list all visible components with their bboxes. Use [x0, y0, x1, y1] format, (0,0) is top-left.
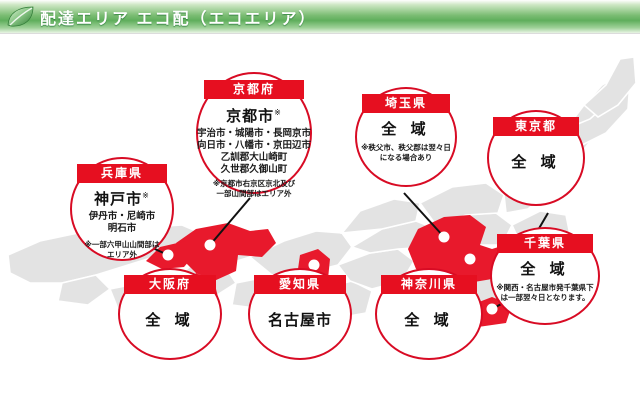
- callout-aichi-main: 名古屋市: [248, 312, 352, 329]
- callout-saitama-prefecture: 埼玉県: [362, 94, 450, 113]
- page-title: 配達エリア エコ配（エコエリア）: [40, 5, 316, 29]
- callout-kyoto-prefecture: 京都府: [204, 80, 304, 99]
- callout-chiba-prefecture: 千葉県: [497, 234, 593, 253]
- callout-kyoto-main: 京都市※: [196, 104, 312, 125]
- callout-kyoto-main-mark: ※: [274, 108, 282, 117]
- callout-hyogo-sub-2: 明石市: [70, 223, 174, 235]
- callout-aichi[interactable]: 愛知県 名古屋市: [248, 268, 352, 360]
- callout-kyoto-note-1: ※京都市右京区京北及び: [196, 179, 312, 189]
- callout-chiba-note-1: ※関西・名古屋市発千葉県下: [490, 283, 600, 293]
- callout-tokyo-prefecture: 東京都: [493, 117, 579, 136]
- callout-kyoto-note-2: 一部山間部はエリア外: [196, 189, 312, 199]
- page-header: 配達エリア エコ配（エコエリア）: [0, 0, 640, 34]
- callout-kanagawa[interactable]: 神奈川県 全 域: [375, 268, 483, 360]
- callout-hyogo[interactable]: 兵庫県 神戸市※ 伊丹市・尼崎市 明石市 ※一部六甲山山間部は エリア外: [70, 157, 174, 261]
- callout-saitama-main: 全 域: [355, 121, 457, 138]
- callout-hyogo-note-1: ※一部六甲山山間部は: [70, 240, 174, 250]
- callout-kyoto[interactable]: 京都府 京都市※ 宇治市・城陽市・長岡京市 向日市・八幡市・京田辺市 乙訓郡大山…: [196, 72, 312, 194]
- callout-osaka-prefecture: 大阪府: [124, 275, 216, 294]
- callout-kyoto-sub-1: 宇治市・城陽市・長岡京市: [196, 128, 312, 140]
- callout-tokyo-main: 全 域: [487, 154, 585, 171]
- callout-kanagawa-main: 全 域: [375, 312, 483, 329]
- callout-hyogo-main: 神戸市※: [70, 187, 174, 208]
- callout-hyogo-prefecture: 兵庫県: [77, 164, 167, 183]
- callout-hyogo-note-2: エリア外: [70, 250, 174, 260]
- callout-kyoto-sub-4: 久世郡久御山町: [196, 164, 312, 176]
- delivery-area-infographic: 配達エリア エコ配（エコエリア）: [0, 0, 640, 406]
- callout-saitama-note-1: ※秩父市、秩父郡は翌々日: [355, 143, 457, 153]
- leaf-icon: [4, 4, 38, 30]
- callout-osaka[interactable]: 大阪府 全 域: [118, 268, 222, 360]
- callout-tokyo[interactable]: 東京都 全 域: [487, 110, 585, 206]
- callout-chiba[interactable]: 千葉県 全 域 ※関西・名古屋市発千葉県下 は一部翌々日となります。: [490, 227, 600, 325]
- callout-aichi-prefecture: 愛知県: [254, 275, 346, 294]
- callout-chiba-main: 全 域: [490, 261, 600, 278]
- callout-kyoto-sub-3: 乙訓郡大山崎町: [196, 152, 312, 164]
- callout-hyogo-main-mark: ※: [142, 191, 150, 200]
- callout-chiba-note-2: は一部翌々日となります。: [490, 293, 600, 303]
- callout-hyogo-sub-1: 伊丹市・尼崎市: [70, 211, 174, 223]
- callout-kanagawa-prefecture: 神奈川県: [381, 275, 477, 294]
- callout-kyoto-sub-2: 向日市・八幡市・京田辺市: [196, 140, 312, 152]
- callout-saitama[interactable]: 埼玉県 全 域 ※秩父市、秩父郡は翌々日 になる場合あり: [355, 87, 457, 187]
- callout-saitama-note-2: になる場合あり: [355, 153, 457, 163]
- callout-osaka-main: 全 域: [118, 312, 222, 329]
